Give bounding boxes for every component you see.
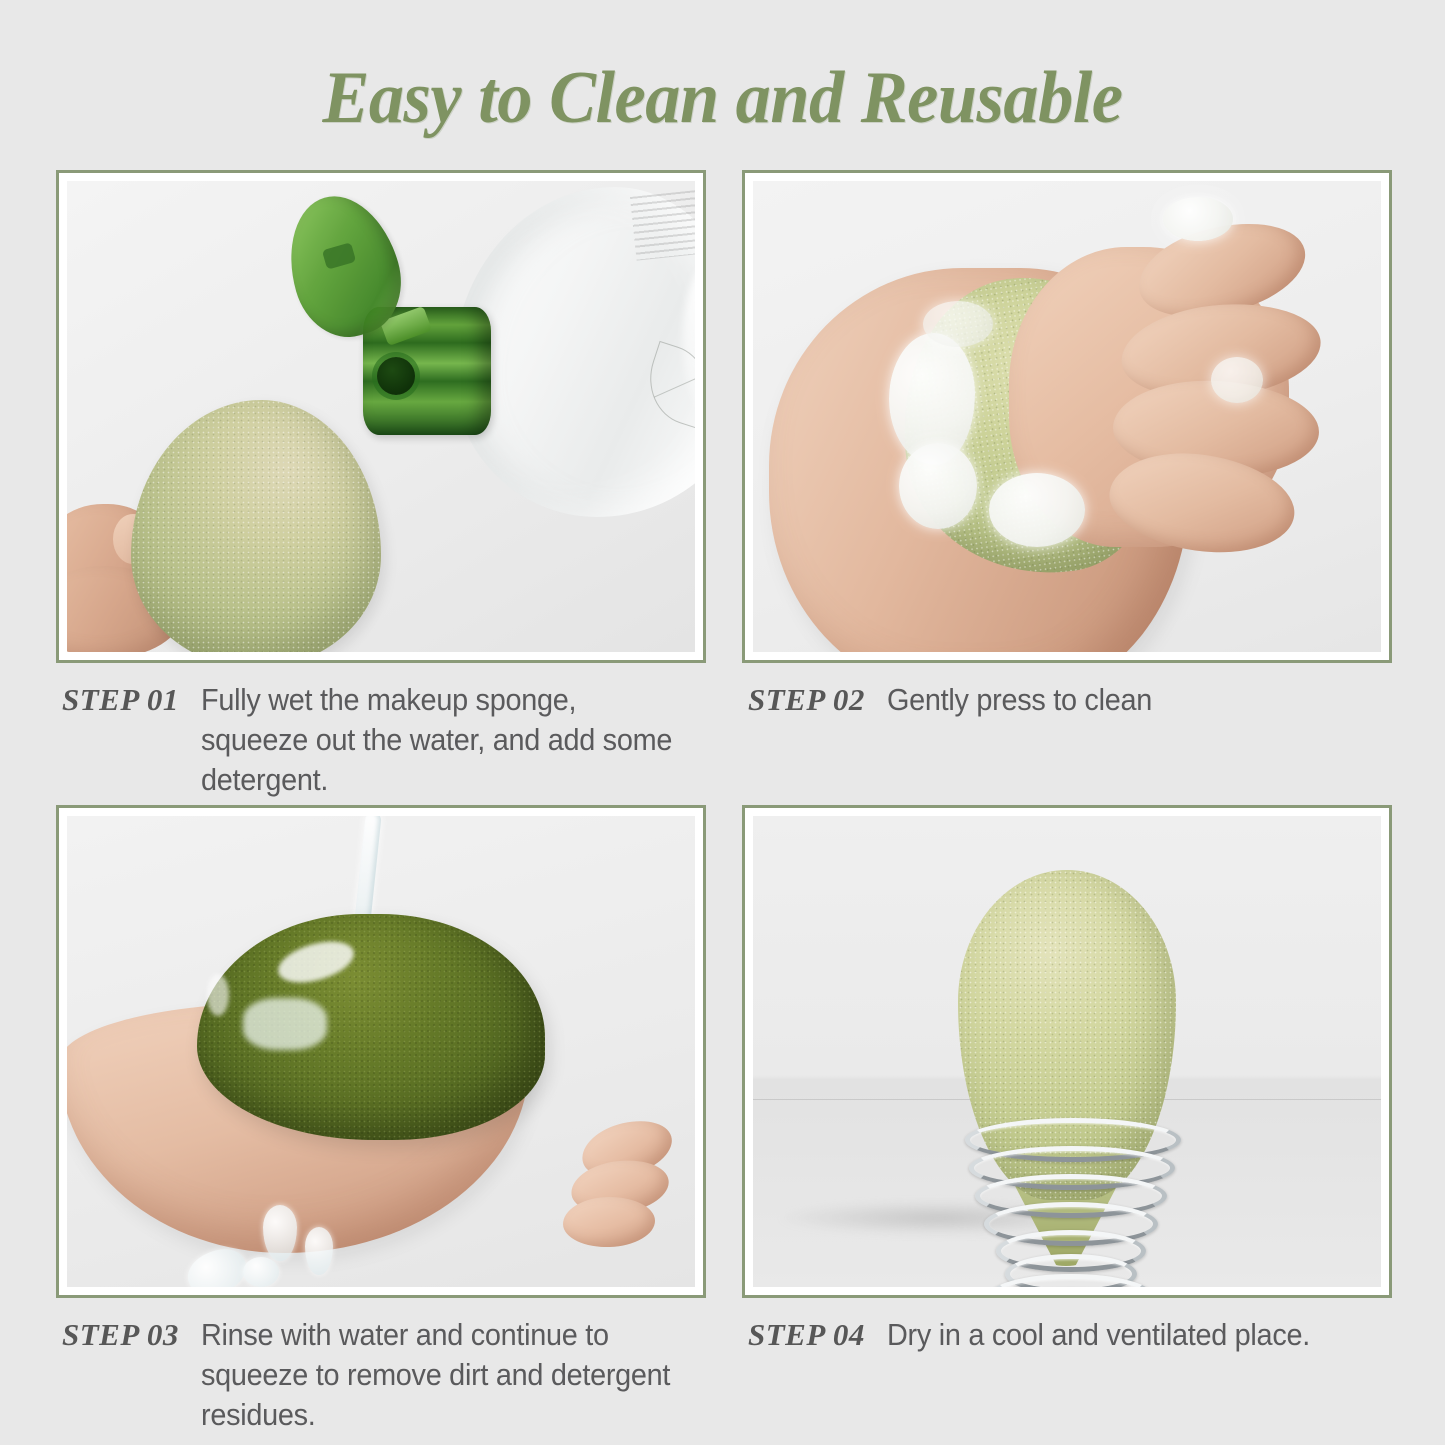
bottle-cap-hole-icon	[377, 357, 415, 395]
step-card-03: STEP 03 Rinse with water and continue to…	[56, 805, 712, 1435]
photo-frame-02	[742, 170, 1392, 663]
photo-step-03	[67, 816, 695, 1287]
photo-step-02	[753, 181, 1381, 652]
water-drip-icon	[305, 1227, 333, 1275]
infographic-page: Easy to Clean and Reusable	[0, 0, 1445, 1445]
caption-04: STEP 04 Dry in a cool and ventilated pla…	[742, 1315, 1398, 1355]
water-highlight-icon	[207, 974, 229, 1016]
step-label: STEP 01	[62, 680, 179, 720]
step-label: STEP 04	[748, 1315, 865, 1355]
step-description: Fully wet the makeup sponge, squeeze out…	[201, 680, 676, 800]
step-description: Gently press to clean	[887, 680, 1362, 720]
step-description: Dry in a cool and ventilated place.	[887, 1315, 1362, 1355]
step-card-04: STEP 04 Dry in a cool and ventilated pla…	[742, 805, 1398, 1355]
foam-icon	[923, 301, 993, 347]
makeup-sponge-icon	[131, 400, 381, 652]
foam-icon	[989, 473, 1085, 547]
caption-03: STEP 03 Rinse with water and continue to…	[56, 1315, 712, 1435]
foam-icon	[1211, 357, 1263, 403]
foam-icon	[899, 443, 977, 529]
step-card-02: STEP 02 Gently press to clean	[742, 170, 1398, 720]
leaf-icon	[637, 341, 695, 429]
sponge-texture-icon	[131, 400, 381, 652]
step-card-01: STEP 01 Fully wet the makeup sponge, squ…	[56, 170, 712, 800]
water-highlight-icon	[243, 998, 327, 1050]
photo-frame-04	[742, 805, 1392, 1298]
bottle-label-icon	[630, 185, 695, 260]
steps-grid: STEP 01 Fully wet the makeup sponge, squ…	[56, 170, 1392, 1410]
foam-icon	[1163, 197, 1233, 241]
page-title: Easy to Clean and Reusable	[36, 56, 1409, 141]
step-label: STEP 03	[62, 1315, 179, 1355]
photo-step-01	[67, 181, 695, 652]
photo-frame-03	[56, 805, 706, 1298]
caption-02: STEP 02 Gently press to clean	[742, 680, 1398, 720]
photo-step-04	[753, 816, 1381, 1287]
caption-01: STEP 01 Fully wet the makeup sponge, squ…	[56, 680, 712, 800]
photo-frame-01	[56, 170, 706, 663]
water-drip-icon	[243, 1257, 279, 1287]
step-label: STEP 02	[748, 680, 865, 720]
step-description: Rinse with water and continue to squeeze…	[201, 1315, 676, 1435]
